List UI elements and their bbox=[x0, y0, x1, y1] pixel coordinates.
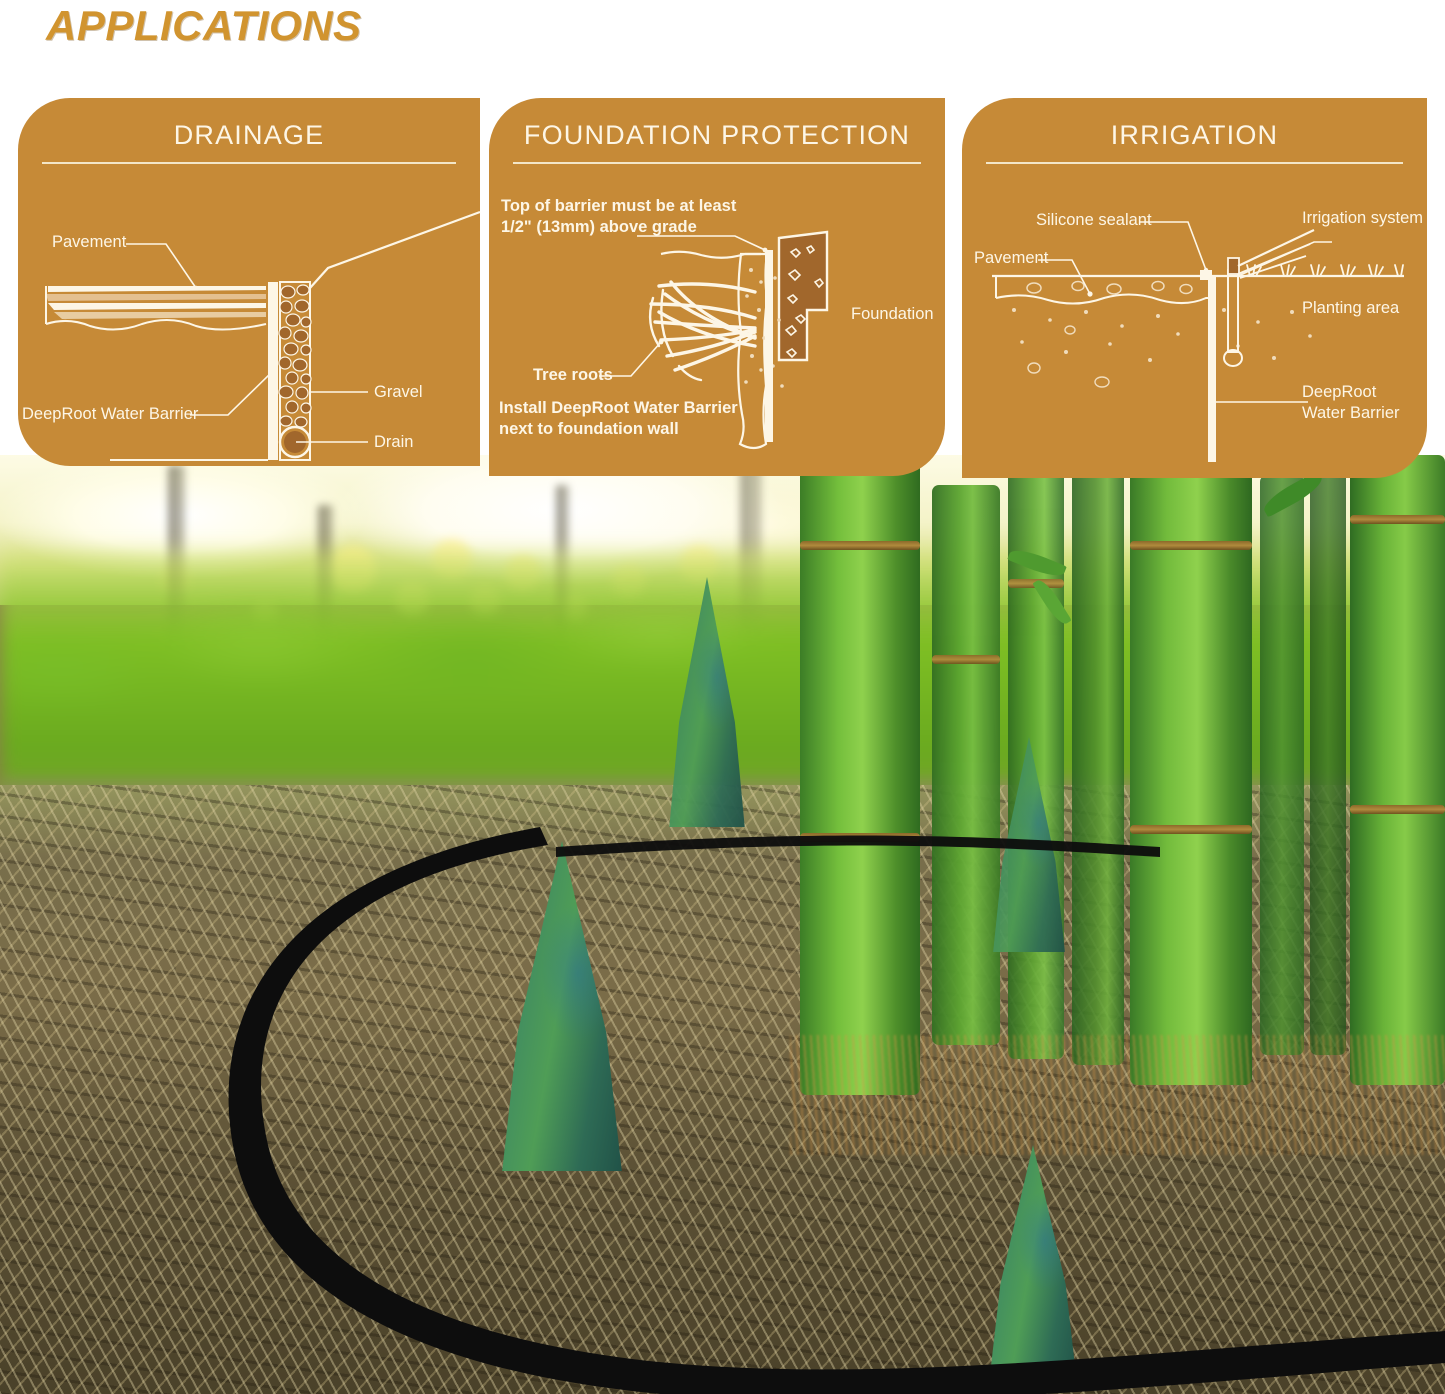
label-pavement: Pavement bbox=[974, 248, 1048, 269]
page-title: APPLICATIONS bbox=[46, 2, 362, 50]
label-water-barrier: DeepRoot Water Barrier bbox=[1302, 382, 1400, 423]
irrigation-diagram: Silicone sealant Pavement Irrigation sys… bbox=[962, 170, 1427, 478]
bamboo-shoot bbox=[990, 737, 1068, 952]
panel-title-drainage: DRAINAGE bbox=[18, 120, 480, 151]
panel-rule bbox=[986, 162, 1403, 164]
label-top-of-barrier: Top of barrier must be at least 1/2" (13… bbox=[501, 196, 736, 237]
label-foundation: Foundation bbox=[851, 304, 934, 325]
label-water-barrier: DeepRoot Water Barrier bbox=[22, 404, 198, 425]
label-silicone-sealant: Silicone sealant bbox=[1036, 210, 1152, 231]
panel-title-foundation: FOUNDATION PROTECTION bbox=[489, 120, 945, 151]
label-gravel: Gravel bbox=[374, 382, 423, 403]
bamboo-shoot bbox=[666, 577, 748, 827]
product-photo bbox=[0, 455, 1445, 1394]
label-planting-area: Planting area bbox=[1302, 298, 1399, 319]
label-drain: Drain bbox=[374, 432, 413, 453]
panel-irrigation: IRRIGATION bbox=[962, 98, 1427, 478]
panel-rule bbox=[42, 162, 456, 164]
panel-foundation: FOUNDATION PROTECTION bbox=[489, 98, 945, 476]
label-install-barrier: Install DeepRoot Water Barrier next to f… bbox=[499, 398, 738, 439]
bamboo-shoot bbox=[985, 1145, 1081, 1385]
panel-title-irrigation: IRRIGATION bbox=[962, 120, 1427, 151]
label-tree-roots: Tree roots bbox=[533, 365, 613, 386]
panel-drainage: DRAINAGE bbox=[18, 98, 480, 466]
label-irrigation-system: Irrigation system bbox=[1302, 208, 1423, 229]
label-pavement: Pavement bbox=[52, 232, 126, 253]
bamboo-shoot bbox=[497, 841, 627, 1171]
foundation-diagram: Top of barrier must be at least 1/2" (13… bbox=[489, 170, 945, 476]
panel-rule bbox=[513, 162, 921, 164]
culm-base-fibers bbox=[790, 1035, 1445, 1155]
drainage-diagram: Pavement DeepRoot Water Barrier Gravel D… bbox=[18, 170, 480, 466]
